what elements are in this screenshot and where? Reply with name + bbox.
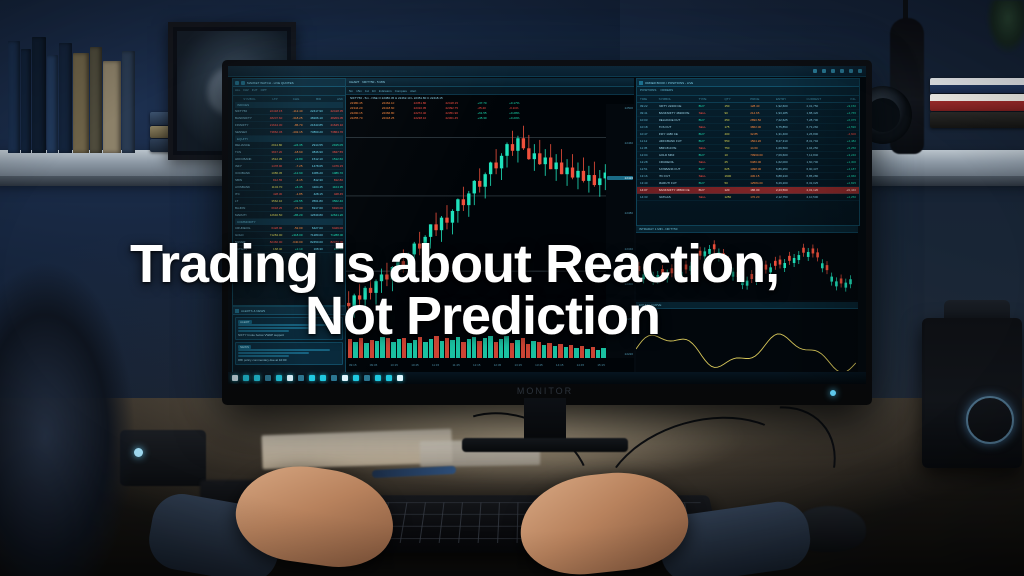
price-tick[interactable]: 22420 [607,176,633,180]
order-qty: 25 [724,160,748,164]
column-header: ENTRY [776,97,805,101]
symbol-label: LT [235,199,262,203]
time-tick[interactable]: 12:45 [494,363,502,371]
taskbar-icon-8[interactable] [320,375,326,381]
volume-bar [591,347,595,358]
order-pnl: +2,825 [837,181,856,185]
taskbar-icon-15[interactable] [397,375,403,381]
taskbar-icon-9[interactable] [331,375,337,381]
time-tick[interactable]: 13:15 [514,363,522,371]
price-tick[interactable]: 22380 [607,211,633,215]
volume-bar [574,348,578,358]
time-tick[interactable]: 09:15 [349,363,357,371]
panel-icon [241,81,245,85]
order-pnl: +5,250 [837,146,856,150]
monitor-brand-label: MONITOR [500,386,590,398]
ask-price: 1512.60 [324,157,343,161]
price-tick[interactable]: 22220 [607,352,633,356]
monitor-stand-neck [524,398,566,442]
change-value: -18.60 [283,150,302,154]
bid-price: 21643.85 [304,123,323,127]
watchlist-title: MARKET WATCH - LIVE QUOTES [247,81,294,85]
order-price: 186.30 [750,188,774,192]
change-value: -74.30 [283,206,302,210]
order-symbol: NATGAS [659,195,697,199]
book-spine [59,43,72,153]
order-type: SELL [699,111,723,115]
ask-price: 12641.20 [324,213,343,217]
order-entry-value: 7,09,600 [776,153,805,157]
time-tick[interactable]: 10:15 [390,363,398,371]
order-book-rows[interactable]: 09:22NIFTY 22400 CEBUY150128.401,92,6002… [637,103,859,201]
mini-chart-1-title: INTRADAY 1 MIN - NIFTY50 [636,226,858,233]
order-time: 11:12 [640,139,657,143]
order-price: 6480.00 [750,160,774,164]
watchlist-row[interactable]: SENSEX73862.45-402.1573860.2073864.70 [235,129,343,136]
order-pnl: -22,440 [837,188,856,192]
time-axis[interactable]: 09:1509:4510:1510:4511:1511:4512:1512:45… [346,362,608,372]
book-spine [47,55,58,153]
order-price: 1504.20 [750,139,774,143]
column-header: TYPE [699,97,723,101]
taskbar-icon-10[interactable] [342,375,348,381]
watchlist-row[interactable]: ICICIBANK1086.45+12.901086.201086.70 [235,170,343,177]
symbol-label: RELIANCE [235,143,262,147]
order-row[interactable]: 14:33NATGASSELL1250170.202,12,7502,10,50… [637,194,859,201]
order-type: BUY [699,132,723,136]
order-pnl: +4,765 [837,111,856,115]
order-symbol: CRUDEOIL [659,160,697,164]
last-price: 6428.00 [263,226,282,230]
order-row[interactable]: 10:03RELIANCE FUTBUY2502890.507,22,6257,… [637,117,859,124]
watchlist-row[interactable]: SBIN812.55-4.15812.30812.80 [235,177,343,184]
order-current-value: 1,88,420 [806,111,835,115]
os-taskbar[interactable] [228,372,866,384]
order-pnl: +2,250 [837,195,856,199]
order-row[interactable]: 12:28CRUDEOILSELL256480.001,62,0001,60,7… [637,159,859,166]
column-header: QTY [724,97,748,101]
headline-line-1: Trading is about Reaction, [130,234,779,294]
hanging-plant [986,0,1024,60]
taskbar-icon-1[interactable] [243,375,249,381]
order-current-value: 2,10,500 [806,195,835,199]
chart-tool-compare[interactable]: Compare [395,89,407,93]
last-price: 12640.50 [263,213,282,217]
chart-tool-1d[interactable]: 1D [372,89,376,93]
taskbar-icon-14[interactable] [386,375,392,381]
symbol-label: NIFTY50 [235,109,262,113]
ask-price: 48209.05 [324,116,343,120]
watchlist-row[interactable]: BANKNIFTY48207.60-318.2548206.1048209.05 [235,115,343,122]
book-stacked [930,112,1024,128]
ask-price: 21645.10 [324,123,343,127]
chart-tab[interactable]: CHART [349,80,359,84]
order-symbol: ITC FUT [659,174,697,178]
change-value: -112.40 [283,109,302,113]
watchlist-row[interactable]: RELIANCE2914.80+24.352914.552915.05 [235,142,343,149]
order-pnl: +2,960 [837,174,856,178]
bid-price: 3561.80 [304,199,323,203]
volume-bar [585,349,589,358]
bid-price: 6427.00 [304,226,323,230]
order-price: 3862.00 [750,125,774,129]
order-type: BUY [699,104,723,108]
bid-price: 812.30 [304,178,323,182]
symbol-label: AXISBANK [235,185,262,189]
desk-speaker [922,318,1022,468]
order-row[interactable]: 10:47INFY 1480 CEBUY40032.851,31,4001,26… [637,131,859,138]
chart-tool-indicators[interactable]: Indicators [379,89,392,93]
ask-price: 6919.00 [324,206,343,210]
chart-tool-5m[interactable]: 5m [349,89,353,93]
panel-icon [639,81,643,85]
order-symbol: SBIN 810 PE [659,146,697,150]
window-control-user[interactable] [849,69,853,73]
panel-icon [235,81,239,85]
change-value: +24.35 [283,143,302,147]
window-controls[interactable] [813,69,862,73]
order-book-column-headers: TIMESYMBOLTYPEQTYPRICEENTRYCURRENTP&L [637,96,859,103]
watchlist-row[interactable]: TCS3847.20-18.603846.903847.55 [235,149,343,156]
order-current-value: 1,04,250 [806,146,835,150]
change-value: +86.20 [283,213,302,217]
last-price: 812.55 [263,178,282,182]
volume-bar [569,345,573,358]
alert-text-line [238,355,289,357]
order-qty: 50 [724,181,748,185]
order-qty: 10 [724,153,748,157]
headline-overlay: Trading is about Reaction, Not Predictio… [130,238,900,343]
order-symbol: HDFCBANK FUT [659,139,697,143]
last-price: 22418.15 [263,109,282,113]
order-symbol: BANKNIFTY 48500 CE [659,188,697,192]
order-symbol: BANKNIFTY 48200 PE [659,111,697,115]
order-row[interactable]: 14:07BANKNIFTY 48500 CEBUY120186.302,23,… [637,187,859,194]
order-entry-value: 1,62,000 [776,160,805,164]
order-type: SELL [699,146,723,150]
watchlist-tab[interactable]: ALL [235,88,240,94]
order-type: BUY [699,181,723,185]
order-qty: 250 [724,118,748,122]
taskbar-icon-11[interactable] [353,375,359,381]
order-qty: 550 [724,139,748,143]
order-qty: 175 [724,125,748,129]
order-row[interactable]: 09:22NIFTY 22400 CEBUY150128.401,92,6002… [637,103,859,110]
time-tick[interactable]: 12:15 [473,363,481,371]
change-value: -86.70 [283,123,302,127]
bid-price: 3846.90 [304,150,323,154]
ask-price: 2915.05 [324,143,343,147]
watchlist-tabs[interactable]: ALLFAVFUTOPT [233,87,345,96]
last-price: 3847.20 [263,150,282,154]
order-pnl: +1,300 [837,160,856,164]
taskbar-icon-5[interactable] [287,375,293,381]
power-led-icon [830,390,836,396]
order-entry-value: 7,22,625 [776,118,805,122]
order-time: 14:33 [640,195,657,199]
change-value: +6.45 [283,185,302,189]
symbol-label: SENSEX [235,130,262,134]
watchlist-row[interactable]: AXISBANK1104.70+6.451104.451104.95 [235,184,343,191]
window-control-settings[interactable] [840,69,844,73]
order-row[interactable]: 13:40MARUTI FUTBUY5012584.006,29,2006,32… [637,180,859,187]
book-spine [90,47,102,153]
ask-price: 6429.00 [324,226,343,230]
order-time: 13:40 [640,181,657,185]
book-spine [122,51,135,153]
order-current-value: 2,01,750 [806,104,835,108]
watchlist-row[interactable]: NIFTY5022418.15-112.4022417.9022418.35 [235,108,343,115]
order-book-header: ORDER BOOK / POSITIONS - LIVE [637,79,859,87]
order-time: 10:47 [640,132,657,136]
order-qty: 1250 [724,195,748,199]
order-symbol: MARUTI FUT [659,181,697,185]
last-price: 1478.90 [263,164,282,168]
chart-legend-title: NIFTY50 - 5m - NSE O 22380.45 H 22462.10… [350,96,540,100]
bid-price: 22417.90 [304,109,323,113]
chart-tool-alert[interactable]: Alert [410,89,416,93]
taskbar-icon-0[interactable] [232,375,238,381]
watchlist-row[interactable]: ITC428.30-1.85428.15428.45 [235,191,343,198]
volume-bar [542,345,546,358]
taskbar-icon-7[interactable] [309,375,315,381]
watchlist-row[interactable]: FINNIFTY21644.30-86.7021643.8521645.10 [235,122,343,129]
order-current-value: 6,32,025 [806,181,835,185]
symbol-label: HDFCBANK [235,157,262,161]
column-header: LTP [257,97,278,101]
chart-symbol: NIFTY50 - 5 MIN [362,80,385,84]
watchlist-row[interactable]: INFY1478.90-7.251478.651479.15 [235,163,343,170]
order-qty: 400 [724,132,748,136]
order-time: 11:35 [640,146,657,150]
symbol-label: SBIN [235,178,262,182]
order-pnl: +6,075 [837,118,856,122]
watchlist-rows[interactable]: INDICESNIFTY5022418.15-112.4022417.90224… [233,102,345,253]
symbol-label: ITC [235,192,262,196]
chart-header: CHART NIFTY50 - 5 MIN [346,78,634,87]
window-control-max[interactable] [822,69,826,73]
change-value: -318.25 [283,116,302,120]
symbol-label: TCS [235,150,262,154]
order-current-value: 1,26,800 [806,132,835,136]
last-price: 21644.30 [263,123,282,127]
order-pnl: +9,150 [837,104,856,108]
time-tick[interactable]: 14:15 [556,363,564,371]
order-time: 12:51 [640,167,657,171]
watchlist-tab[interactable]: FUT [252,88,258,94]
order-time: 09:41 [640,111,657,115]
order-type: BUY [699,153,723,157]
last-price: 1104.70 [263,185,282,189]
order-price: 128.40 [750,104,774,108]
window-control-min[interactable] [813,69,817,73]
change-value: -52.00 [283,226,302,230]
order-symbol: GOLD MINI [659,153,697,157]
order-entry-value: 2,23,560 [776,188,805,192]
bid-price: 1086.20 [304,171,323,175]
symbol-label: BANKNIFTY [235,116,262,120]
ask-price: 3562.40 [324,199,343,203]
change-value: +31.55 [283,199,302,203]
column-header: P&L [837,97,856,101]
symbol-label: CRUDEOIL [235,226,262,230]
order-time: 13:16 [640,174,657,178]
bid-price: 1478.65 [304,164,323,168]
order-current-value: 1,60,700 [806,160,835,164]
volume-bar [564,347,568,358]
order-row[interactable]: 11:12HDFCBANK FUTBUY5501504.208,27,3108,… [637,138,859,145]
order-price: 14.60 [750,146,774,150]
time-tick[interactable]: 09:45 [370,363,378,371]
bid-price: 6917.60 [304,206,323,210]
last-price: 1512.35 [263,157,282,161]
bid-price: 428.15 [304,192,323,196]
window-control-restore[interactable] [831,69,835,73]
order-tab[interactable]: ORDERS [660,88,673,94]
headline-line-2: Not Prediction [130,290,900,342]
order-row[interactable]: 12:51AXISBANK FUTBUY6251098.006,86,2506,… [637,166,859,173]
order-book-tabs[interactable]: POSITIONSORDERS [637,87,859,96]
order-entry-value: 1,09,500 [776,146,805,150]
symbol-label: ICICIBANK [235,171,262,175]
watchlist-row[interactable]: HDFCBANK1512.35+9.801512.101512.60 [235,156,343,163]
taskbar-icon-4[interactable] [276,375,282,381]
order-current-value: 6,85,280 [806,174,835,178]
book-stacked [930,78,1024,93]
column-header: CURRENT [806,97,835,101]
taskbar-icon-12[interactable] [364,375,370,381]
taskbar-icon-3[interactable] [265,375,271,381]
alert-text-line [238,352,309,354]
symbol-label: INFY [235,164,262,168]
order-type: BUY [699,139,723,143]
bid-price: 48206.10 [304,116,323,120]
alert-text-line [238,349,330,351]
change-value: +12.90 [283,171,302,175]
time-tick[interactable]: 10:45 [411,363,419,371]
chart-tool-1h[interactable]: 1H [365,89,369,93]
bid-price: 1104.45 [304,185,323,189]
order-current-value: 6,73,260 [806,125,835,129]
order-time: 10:18 [640,125,657,129]
column-header: ASK [322,97,343,101]
order-current-value: 8,31,792 [806,139,835,143]
time-tick[interactable]: 11:15 [432,363,439,371]
order-type: BUY [699,118,723,122]
watchlist-row[interactable]: BAJFIN6918.25-74.306917.606919.00 [235,205,343,212]
last-price: 73862.45 [263,130,282,134]
time-tick[interactable]: 11:45 [452,363,459,371]
watchlist-row[interactable]: LT3562.10+31.553561.803562.40 [235,198,343,205]
ask-price: 22418.35 [324,109,343,113]
window-control-close[interactable] [858,69,862,73]
volume-bar [558,344,562,358]
bid-price: 1512.10 [304,157,323,161]
ask-price: 3847.55 [324,150,343,154]
watchlist-row[interactable]: CRUDEOIL6428.00-52.006427.006429.00 [235,225,343,232]
order-entry-value: 1,93,185 [776,111,805,115]
order-current-value: 6,90,437 [806,167,835,171]
price-tick[interactable]: 22460 [607,141,633,145]
order-price: 170.20 [750,195,774,199]
order-price: 2890.50 [750,118,774,122]
order-book-title: ORDER BOOK / POSITIONS - LIVE [645,81,693,85]
order-current-value: 7,28,700 [806,118,835,122]
app-titlebar [228,66,866,77]
order-book-panel[interactable]: ORDER BOOK / POSITIONS - LIVE POSITIONSO… [636,78,860,226]
order-row[interactable]: 12:04GOLD MINIBUY1070960.007,09,6007,12,… [637,152,859,159]
books-stack-right [930,78,1024,154]
speaker-driver-ring [966,396,1014,444]
ask-price: 1086.70 [324,171,343,175]
last-price: 6918.25 [263,206,282,210]
watchlist-tab[interactable]: OPT [261,88,267,94]
book-spine [8,41,20,153]
symbol-label: FINNIFTY [235,123,262,127]
symbol-label: MARUTI [235,213,262,217]
order-symbol: INFY 1480 CE [659,132,697,136]
order-time: 09:22 [640,104,657,108]
symbol-label: BAJFIN [235,206,262,210]
change-value: -1.85 [283,192,302,196]
order-row[interactable]: 11:35SBIN 810 PESELL75014.601,09,5001,04… [637,145,859,152]
order-row[interactable]: 13:16ITC FUTSELL1600430.156,88,2406,85,2… [637,173,859,180]
price-tick[interactable]: 22500 [607,106,633,110]
order-pnl: +4,482 [837,139,856,143]
taskbar-icon-6[interactable] [298,375,304,381]
column-header: TIME [640,97,657,101]
time-tick[interactable]: 15:15 [597,363,605,371]
time-tick[interactable]: 13:45 [535,363,543,371]
order-price: 214.65 [750,111,774,115]
order-row[interactable]: 09:41BANKNIFTY 48200 PESELL90214.651,93,… [637,110,859,117]
book-stacked [930,94,1024,111]
volume-bar [553,346,557,358]
watchlist-tab[interactable]: FAV [243,88,248,94]
order-symbol: AXISBANK FUT [659,167,697,171]
order-pnl: -4,600 [837,132,856,136]
order-qty: 750 [724,146,748,150]
order-tab[interactable]: POSITIONS [640,88,656,94]
last-price: 48207.60 [263,116,282,120]
order-type: SELL [699,160,723,164]
watchlist-row[interactable]: MARUTI12640.50+86.2012639.8012641.20 [235,212,343,219]
monitor-stand-base [462,438,628,452]
taskbar-icon-13[interactable] [375,375,381,381]
book-spine [73,53,89,153]
last-price: 2914.80 [263,143,282,147]
chart-tool-15m[interactable]: 15m [356,89,362,93]
column-header: PRICE [750,97,774,101]
taskbar-icon-2[interactable] [254,375,260,381]
screenshot-root: MONITOR MARKET WATCH - LIVE QUOTES ALLFA… [0,0,1024,576]
order-qty: 1600 [724,174,748,178]
change-value: -7.25 [283,164,302,168]
order-row[interactable]: 10:18TCS FUTSELL1753862.006,75,8506,73,2… [637,124,859,131]
bid-price: 73860.20 [304,130,323,134]
bid-price: 12639.80 [304,213,323,217]
order-price: 12584.00 [750,181,774,185]
ask-price: 1104.95 [324,185,343,189]
last-price: 3562.10 [263,199,282,203]
time-tick[interactable]: 14:45 [577,363,585,371]
books-upright-group [8,35,158,153]
order-entry-value: 1,92,600 [776,104,805,108]
order-symbol: NIFTY 22400 CE [659,104,697,108]
chart-toolbar[interactable]: 5m15m1H1DIndicatorsCompareAlert [346,87,634,95]
order-qty: 150 [724,104,748,108]
order-type: SELL [699,174,723,178]
